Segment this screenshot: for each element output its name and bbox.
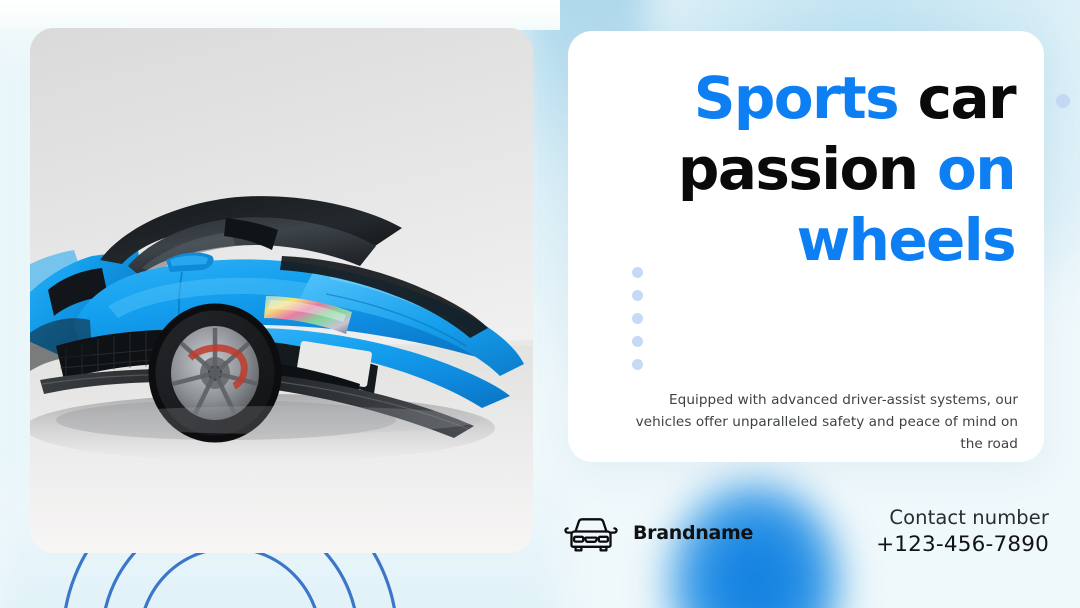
car-image-card bbox=[30, 28, 533, 553]
body-paragraph: Equipped with advanced driver-assist sys… bbox=[626, 389, 1018, 455]
contact-number[interactable]: +123-456-7890 bbox=[876, 531, 1049, 559]
poster-canvas: Sports car passion on wheels Equipped wi… bbox=[0, 0, 1080, 608]
headline-word-sports: Sports bbox=[694, 64, 898, 132]
car-front-icon bbox=[563, 512, 619, 554]
dot-4 bbox=[632, 336, 643, 347]
headline-word-passion: passion bbox=[678, 135, 918, 203]
brand-name: Brandname bbox=[633, 522, 753, 544]
dot-5 bbox=[632, 359, 643, 370]
dots-decoration bbox=[632, 267, 643, 370]
headline: Sports car passion on wheels bbox=[596, 63, 1015, 275]
headline-word-wheels: wheels bbox=[797, 206, 1015, 274]
dot-3 bbox=[632, 313, 643, 324]
top-strip bbox=[0, 0, 560, 30]
headline-word-on: on bbox=[937, 135, 1015, 203]
dot-1 bbox=[632, 267, 643, 278]
dot-2 bbox=[632, 290, 643, 301]
car-photo bbox=[30, 28, 533, 553]
contact-block: Contact number +123-456-7890 bbox=[876, 505, 1049, 559]
headline-card: Sports car passion on wheels Equipped wi… bbox=[568, 31, 1044, 462]
accent-dot-decoration bbox=[1056, 94, 1070, 108]
contact-label: Contact number bbox=[876, 505, 1049, 531]
headline-word-car: car bbox=[918, 64, 1015, 132]
brand-block[interactable]: Brandname bbox=[563, 512, 753, 554]
